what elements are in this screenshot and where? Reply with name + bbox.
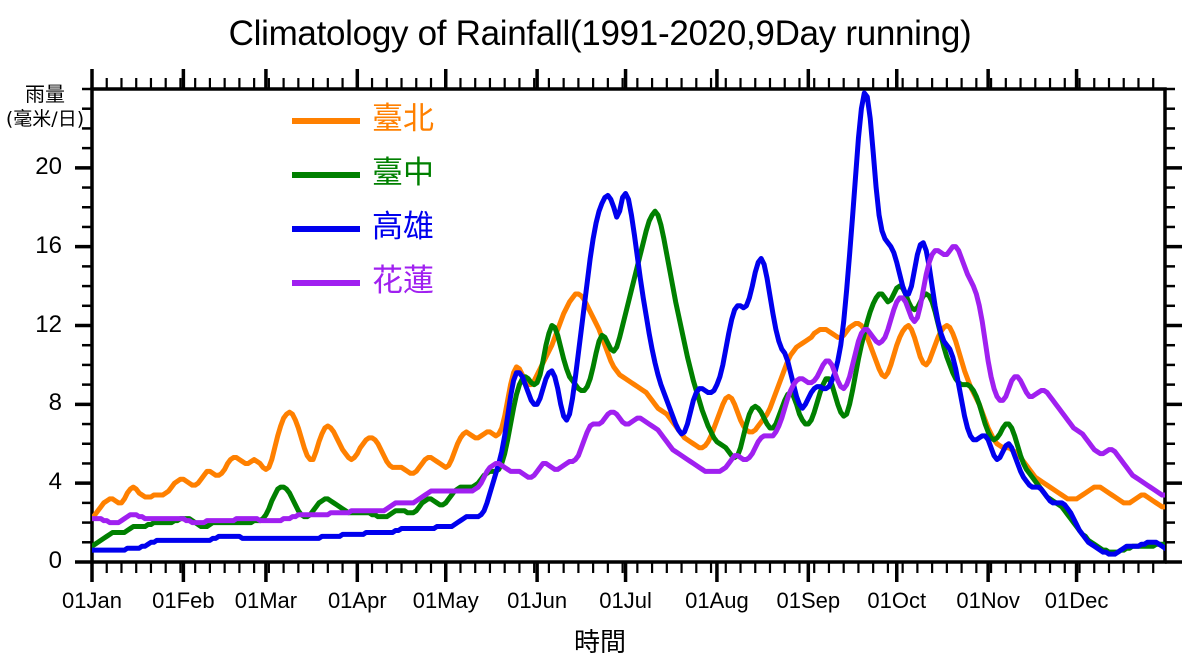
y-tick-label: 16: [10, 232, 62, 260]
legend-swatch-0: [292, 118, 360, 124]
chart-page: Climatology of Rainfall(1991-2020,9Day r…: [0, 0, 1200, 659]
axes-layer: [75, 69, 1182, 582]
plot-frame: [92, 89, 1165, 562]
legend-label-2: 高雄: [372, 212, 434, 243]
y-tick-label: 12: [10, 311, 62, 339]
legend-swatch-1: [292, 172, 360, 178]
series-line-2: [92, 93, 1200, 554]
legend-label-0: 臺北: [372, 104, 434, 135]
y-tick-label: 8: [10, 389, 62, 417]
y-tick-label: 4: [10, 468, 62, 496]
series-layer: [92, 93, 1200, 554]
legend-label-1: 臺中: [372, 158, 434, 189]
legend-label-3: 花蓮: [372, 266, 434, 297]
y-tick-label: 0: [10, 547, 62, 575]
y-tick-label: 20: [10, 153, 62, 181]
legend-swatch-2: [292, 226, 360, 232]
series-line-1: [92, 211, 1200, 552]
legend-swatch-3: [292, 280, 360, 286]
plot-area: [0, 0, 1200, 659]
x-tick-label: 01Dec: [1017, 588, 1137, 614]
